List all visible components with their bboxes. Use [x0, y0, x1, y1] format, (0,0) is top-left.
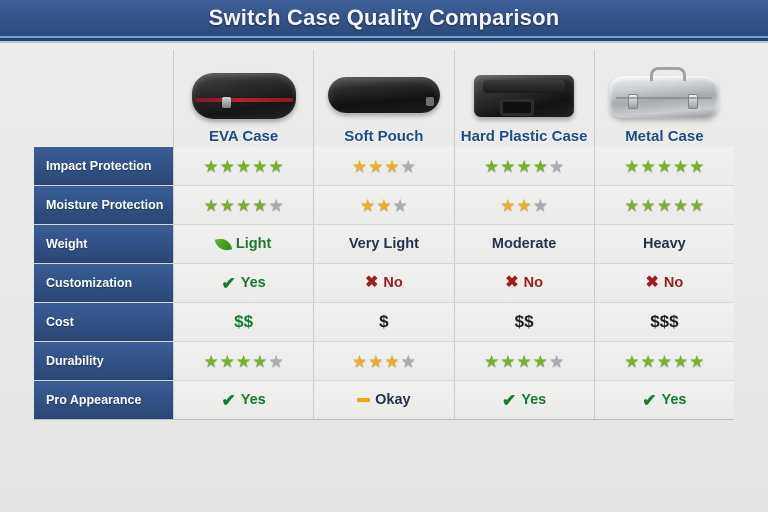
star-rating: ★★★ [500, 197, 548, 214]
table-row: Pro Appearance✔YesOkay✔Yes✔Yes [34, 381, 734, 420]
cell-value: ✔Yes [502, 392, 546, 409]
cell-value: Light [216, 236, 271, 252]
cross-icon: ✖ [505, 275, 518, 291]
star-filled-icon: ★ [252, 353, 267, 370]
star-filled-icon: ★ [360, 197, 375, 214]
table-body: Impact Protection★★★★★★★★★★★★★★★★★★★Mois… [34, 147, 734, 420]
star-filled-icon: ★ [657, 158, 672, 175]
star-empty-icon: ★ [269, 197, 284, 214]
table-corner-cell [34, 50, 173, 147]
cell-text: No [664, 275, 683, 291]
star-filled-icon: ★ [517, 353, 532, 370]
star-filled-icon: ★ [236, 158, 251, 175]
row-label-cost: Cost [34, 303, 173, 341]
cell-value: Heavy [643, 236, 686, 252]
cross-icon: ✖ [365, 275, 378, 291]
star-filled-icon: ★ [657, 353, 672, 370]
cell-text: Very Light [349, 236, 419, 252]
star-filled-icon: ★ [689, 353, 704, 370]
check-icon: ✔ [222, 275, 236, 292]
cell-value: $$ [234, 312, 253, 332]
star-filled-icon: ★ [689, 158, 704, 175]
cell-text: Yes [241, 275, 266, 291]
cell-text: No [383, 275, 402, 291]
star-filled-icon: ★ [236, 197, 251, 214]
table-row: Moisture Protection★★★★★★★★★★★★★★★★ [34, 186, 734, 225]
table-cell: $ [313, 303, 453, 341]
star-rating: ★★★★★ [204, 158, 284, 175]
header-accent-line-bottom [0, 41, 768, 43]
table-cell: ✖No [313, 264, 453, 302]
table-cell: Light [173, 225, 313, 263]
cell-value: ✖No [505, 275, 543, 291]
cell-text: No [524, 275, 543, 291]
table-cell: Okay [313, 381, 453, 419]
product-column-hard-plastic[interactable]: Hard Plastic Case [454, 50, 594, 147]
star-filled-icon: ★ [517, 197, 532, 214]
cell-value: ✖No [365, 275, 403, 291]
row-label-weight: Weight [34, 225, 173, 263]
star-filled-icon: ★ [641, 197, 656, 214]
table-cell: ✖No [454, 264, 594, 302]
star-filled-icon: ★ [500, 158, 515, 175]
leaf-icon [215, 236, 232, 252]
star-filled-icon: ★ [376, 197, 391, 214]
star-filled-icon: ★ [204, 353, 219, 370]
star-rating: ★★★★★ [624, 158, 704, 175]
row-label-moisture-protection: Moisture Protection [34, 186, 173, 224]
product-name-label: Metal Case [625, 128, 703, 145]
product-name-label: Hard Plastic Case [461, 128, 588, 145]
star-empty-icon: ★ [401, 158, 416, 175]
table-cell: ✔Yes [594, 381, 734, 419]
hard-plastic-case-photo [460, 63, 588, 125]
star-filled-icon: ★ [368, 158, 383, 175]
table-cell: ★★★★★ [594, 342, 734, 380]
star-filled-icon: ★ [252, 158, 267, 175]
star-empty-icon: ★ [269, 353, 284, 370]
table-cell: Very Light [313, 225, 453, 263]
table-cell: ✔Yes [454, 381, 594, 419]
cell-text: Yes [521, 392, 546, 408]
table-cell: ✔Yes [173, 264, 313, 302]
star-empty-icon: ★ [549, 158, 564, 175]
star-filled-icon: ★ [220, 197, 235, 214]
star-filled-icon: ★ [500, 353, 515, 370]
product-column-soft-pouch[interactable]: Soft Pouch [313, 50, 453, 147]
star-filled-icon: ★ [641, 158, 656, 175]
star-filled-icon: ★ [484, 353, 499, 370]
star-filled-icon: ★ [236, 353, 251, 370]
table-cell: ★★★★★ [173, 186, 313, 224]
cell-text: $$ [234, 312, 253, 332]
cell-value: Very Light [349, 236, 419, 252]
table-row: Durability★★★★★★★★★★★★★★★★★★★ [34, 342, 734, 381]
star-filled-icon: ★ [657, 197, 672, 214]
star-rating: ★★★★ [352, 158, 416, 175]
check-icon: ✔ [502, 392, 516, 409]
star-filled-icon: ★ [384, 158, 399, 175]
cell-text: Okay [375, 392, 410, 408]
table-row: WeightLightVery LightModerateHeavy [34, 225, 734, 264]
product-header-row: EVA Case Soft Pouch Hard Plastic Case Me… [34, 50, 734, 147]
star-filled-icon: ★ [269, 158, 284, 175]
table-cell: $$ [454, 303, 594, 341]
star-rating: ★★★ [360, 197, 408, 214]
star-filled-icon: ★ [673, 353, 688, 370]
star-rating: ★★★★★ [204, 197, 284, 214]
star-rating: ★★★★★ [204, 353, 284, 370]
product-column-eva[interactable]: EVA Case [173, 50, 313, 147]
star-filled-icon: ★ [641, 353, 656, 370]
row-label-pro-appearance: Pro Appearance [34, 381, 173, 419]
star-rating: ★★★★★ [624, 353, 704, 370]
table-cell: ★★★★ [313, 342, 453, 380]
cell-value: $ [379, 312, 388, 332]
product-name-label: EVA Case [209, 128, 278, 145]
cell-value: Okay [357, 392, 410, 408]
star-filled-icon: ★ [204, 197, 219, 214]
check-icon: ✔ [642, 392, 656, 409]
soft-pouch-photo [320, 63, 448, 125]
cell-text: Light [236, 236, 271, 252]
row-label-durability: Durability [34, 342, 173, 380]
star-filled-icon: ★ [252, 197, 267, 214]
star-rating: ★★★★★ [624, 197, 704, 214]
row-label-impact-protection: Impact Protection [34, 147, 173, 185]
table-row: Customization✔Yes✖No✖No✖No [34, 264, 734, 303]
star-filled-icon: ★ [533, 158, 548, 175]
star-empty-icon: ★ [549, 353, 564, 370]
table-cell: ★★★ [313, 186, 453, 224]
star-filled-icon: ★ [624, 353, 639, 370]
cell-value: Moderate [492, 236, 556, 252]
star-filled-icon: ★ [204, 158, 219, 175]
star-rating: ★★★★★ [484, 158, 564, 175]
star-filled-icon: ★ [500, 197, 515, 214]
cell-value: $$$ [650, 312, 678, 332]
eva-case-photo [180, 63, 308, 125]
table-cell: ★★★★★ [454, 342, 594, 380]
cell-text: $$ [515, 312, 534, 332]
table-cell: ★★★★★ [594, 147, 734, 185]
table-row: Cost$$$$$$$$ [34, 303, 734, 342]
star-filled-icon: ★ [673, 197, 688, 214]
star-filled-icon: ★ [368, 353, 383, 370]
star-filled-icon: ★ [689, 197, 704, 214]
cell-text: Moderate [492, 236, 556, 252]
cell-value: ✖No [646, 275, 684, 291]
star-rating: ★★★★ [352, 353, 416, 370]
star-filled-icon: ★ [533, 353, 548, 370]
cell-text: $ [379, 312, 388, 332]
metal-case-photo [600, 63, 728, 125]
table-cell: ★★★★★ [173, 147, 313, 185]
table-cell: ✖No [594, 264, 734, 302]
table-cell: Moderate [454, 225, 594, 263]
star-filled-icon: ★ [517, 158, 532, 175]
star-filled-icon: ★ [624, 158, 639, 175]
dash-icon [357, 398, 370, 402]
table-cell: ★★★★ [313, 147, 453, 185]
table-cell: Heavy [594, 225, 734, 263]
cell-value: $$ [515, 312, 534, 332]
cross-icon: ✖ [646, 275, 659, 291]
star-filled-icon: ★ [484, 158, 499, 175]
star-empty-icon: ★ [401, 353, 416, 370]
cell-value: ✔Yes [642, 392, 686, 409]
table-cell: ✔Yes [173, 381, 313, 419]
star-filled-icon: ★ [352, 158, 367, 175]
product-name-label: Soft Pouch [344, 128, 423, 145]
product-column-metal[interactable]: Metal Case [594, 50, 734, 147]
star-filled-icon: ★ [384, 353, 399, 370]
table-cell: ★★★ [454, 186, 594, 224]
star-filled-icon: ★ [220, 353, 235, 370]
page-title: Switch Case Quality Comparison [209, 5, 560, 31]
row-label-customization: Customization [34, 264, 173, 302]
cell-text: $$$ [650, 312, 678, 332]
star-filled-icon: ★ [624, 197, 639, 214]
title-bar: Switch Case Quality Comparison [0, 0, 768, 36]
cell-value: ✔Yes [222, 275, 266, 292]
table-cell: $$$ [594, 303, 734, 341]
comparison-table: EVA Case Soft Pouch Hard Plastic Case Me… [34, 50, 734, 420]
table-cell: ★★★★★ [173, 342, 313, 380]
table-cell: ★★★★★ [594, 186, 734, 224]
table-cell: ★★★★★ [454, 147, 594, 185]
cell-text: Yes [662, 392, 687, 408]
check-icon: ✔ [222, 392, 236, 409]
table-cell: $$ [173, 303, 313, 341]
cell-value: ✔Yes [222, 392, 266, 409]
star-empty-icon: ★ [533, 197, 548, 214]
star-rating: ★★★★★ [484, 353, 564, 370]
star-empty-icon: ★ [393, 197, 408, 214]
cell-text: Heavy [643, 236, 686, 252]
cell-text: Yes [241, 392, 266, 408]
table-row: Impact Protection★★★★★★★★★★★★★★★★★★★ [34, 147, 734, 186]
star-filled-icon: ★ [673, 158, 688, 175]
star-filled-icon: ★ [220, 158, 235, 175]
star-filled-icon: ★ [352, 353, 367, 370]
